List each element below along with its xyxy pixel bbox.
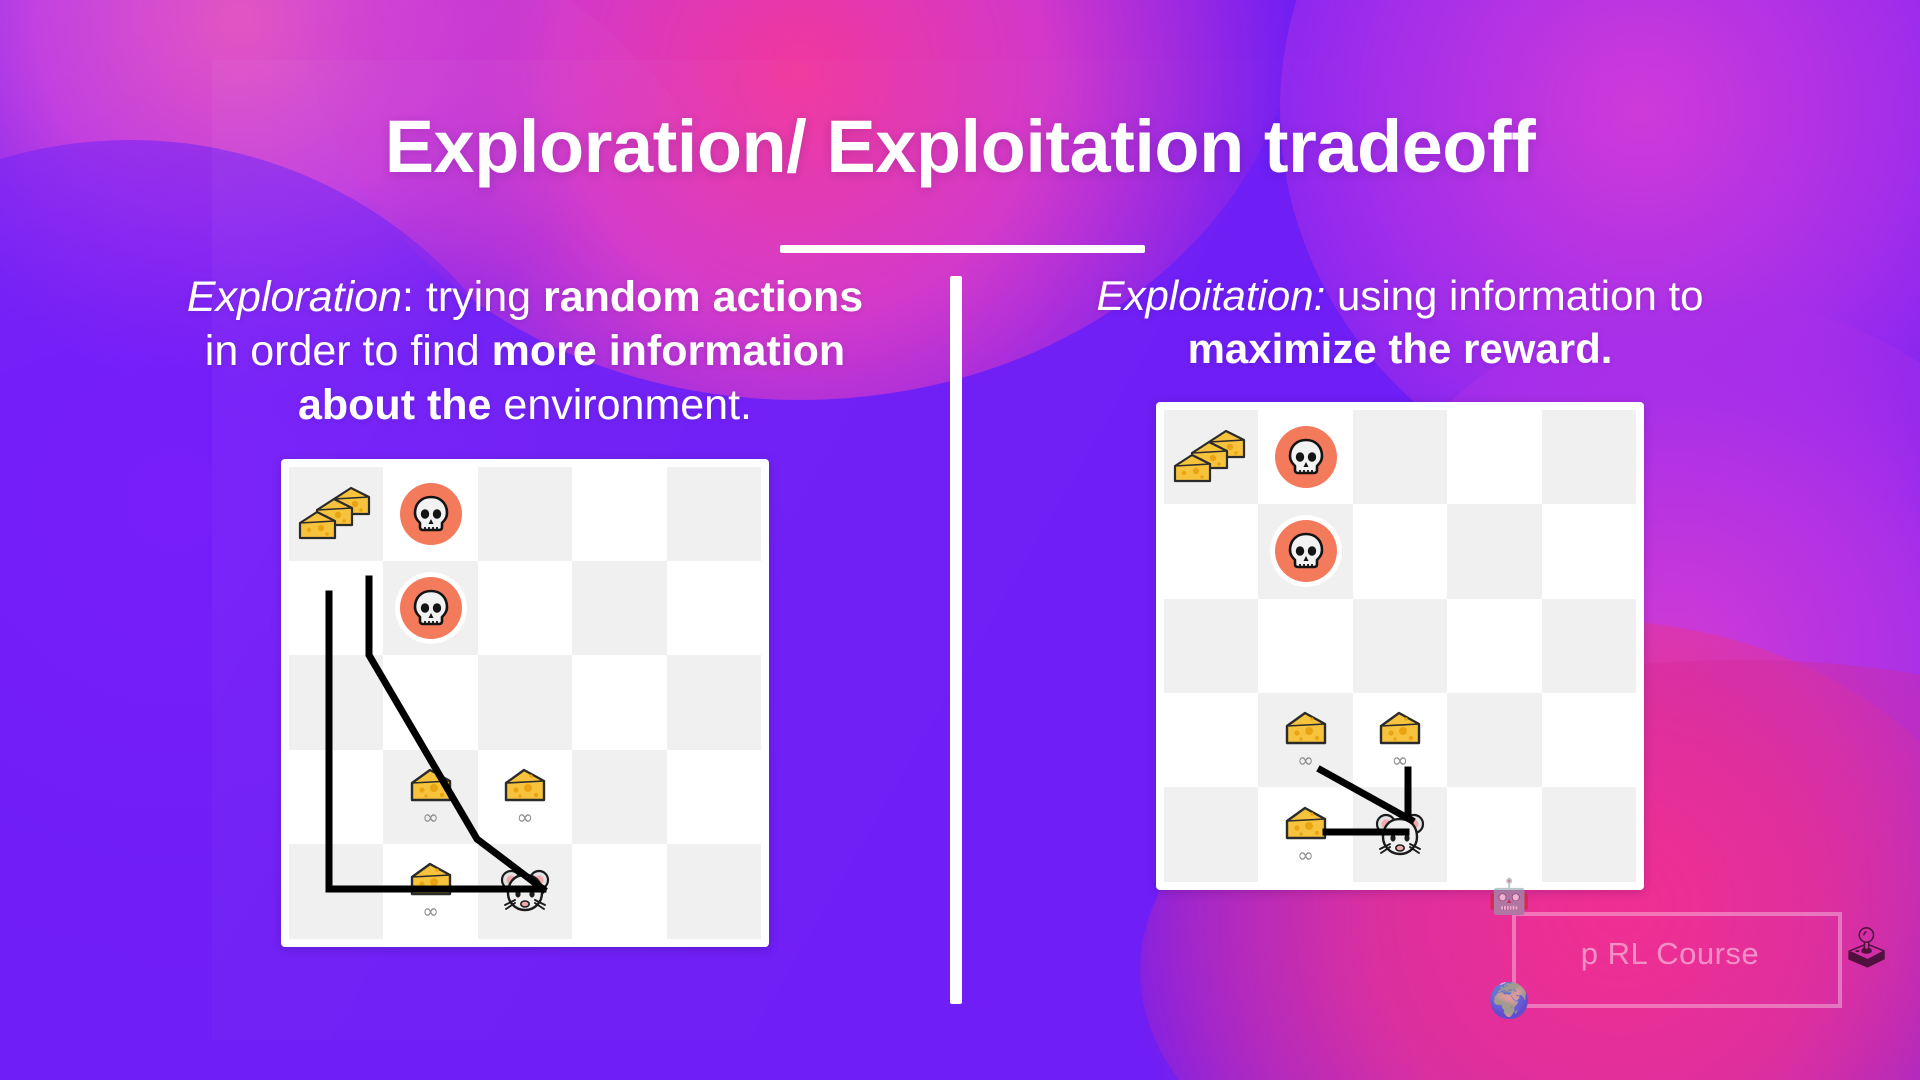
grid-cell-r2-c1: [1258, 599, 1352, 693]
grid-cell-r1-c1: [1258, 504, 1352, 598]
skull-icon: [383, 467, 477, 561]
grid-cell-r4-c4: [1542, 787, 1636, 881]
grid-cell-r3-c0: [289, 750, 383, 844]
grid-cell-r3-c2: ∞: [1353, 693, 1447, 787]
exploitation-term: Exploitation:: [1096, 272, 1325, 319]
mouse-icon-glyph: [499, 867, 551, 915]
grid-cell-r1-c4: [667, 561, 761, 655]
cheese-reward-label: ∞: [1297, 750, 1314, 770]
cheese-stack-icon: [1164, 410, 1258, 504]
exploration-board: ∞∞∞: [281, 459, 769, 947]
grid-cell-r0-c1: [383, 467, 477, 561]
cheese-icon-glyph: [1283, 710, 1329, 748]
skull-icon: [383, 561, 477, 655]
grid-cell-r4-c3: [572, 844, 666, 938]
grid-cell-r4-c1: ∞: [1258, 787, 1352, 881]
exploration-mid: in order to find: [205, 327, 492, 375]
watermark-label: p RL Course: [1494, 936, 1846, 972]
grid-cell-r2-c1: [383, 655, 477, 749]
grid-cell-r2-c2: [478, 655, 572, 749]
grid-cell-r3-c4: [667, 750, 761, 844]
cheese-icon: ∞: [478, 750, 572, 844]
exploitation-grid: ∞∞∞: [1164, 410, 1636, 882]
grid-cell-r1-c4: [1542, 504, 1636, 598]
exploitation-board-wrapper: ∞∞∞: [1050, 402, 1750, 890]
exploration-term: Exploration: [187, 273, 402, 321]
cheese-icon: ∞: [1258, 693, 1352, 787]
grid-cell-r1-c0: [1164, 504, 1258, 598]
skull-icon-token: [1275, 520, 1337, 582]
grid-cell-r2-c0: [1164, 599, 1258, 693]
grid-cell-r1-c3: [1447, 504, 1541, 598]
exploration-grid: ∞∞∞: [289, 467, 761, 939]
exploration-after-term: : trying: [402, 273, 543, 321]
exploitation-caption: Exploitation: using information to maxim…: [1050, 270, 1750, 376]
cheese-icon-glyph: [502, 767, 548, 805]
exploration-column: Exploration: trying random actions in or…: [180, 270, 870, 947]
page-title: Exploration/ Exploitation tradeoff: [0, 104, 1920, 189]
grid-cell-r3-c1: ∞: [383, 750, 477, 844]
grid-cell-r2-c4: [1542, 599, 1636, 693]
grid-cell-r4-c4: [667, 844, 761, 938]
grid-cell-r2-c2: [1353, 599, 1447, 693]
skull-icon: [1258, 410, 1352, 504]
grid-cell-r4-c3: [1447, 787, 1541, 881]
grid-cell-r3-c4: [1542, 693, 1636, 787]
mouse-icon: [1353, 787, 1447, 881]
cheese-reward-label: ∞: [422, 901, 439, 921]
grid-cell-r1-c3: [572, 561, 666, 655]
skull-icon: [1258, 504, 1352, 598]
grid-cell-r2-c3: [572, 655, 666, 749]
exploration-board-wrapper: ∞∞∞: [180, 459, 870, 947]
cheese-icon: ∞: [1353, 693, 1447, 787]
grid-cell-r3-c1: ∞: [1258, 693, 1352, 787]
grid-cell-r0-c2: [478, 467, 572, 561]
cheese-stack-icon-glyph: [1172, 426, 1250, 488]
cheese-reward-label: ∞: [422, 807, 439, 827]
slide-content: Exploration/ Exploitation tradeoff Explo…: [0, 0, 1920, 1080]
cheese-icon: ∞: [383, 750, 477, 844]
skull-icon-token: [1275, 426, 1337, 488]
cheese-reward-label: ∞: [1297, 845, 1314, 865]
cheese-icon: ∞: [383, 844, 477, 938]
grid-cell-r4-c0: [1164, 787, 1258, 881]
grid-cell-r0-c1: [1258, 410, 1352, 504]
mouse-icon-glyph: [1374, 811, 1426, 859]
grid-cell-r0-c3: [572, 467, 666, 561]
cheese-reward-label: ∞: [517, 807, 534, 827]
grid-cell-r4-c2: [1353, 787, 1447, 881]
grid-cell-r3-c3: [572, 750, 666, 844]
watermark: p RL Course 🤖 🌍 🕹: [1494, 884, 1874, 1034]
cheese-icon-glyph: [408, 767, 454, 805]
mouse-icon: [478, 844, 572, 938]
grid-cell-r4-c2: [478, 844, 572, 938]
exploration-bold-1: random actions: [543, 273, 863, 321]
cheese-reward-label: ∞: [1392, 750, 1409, 770]
grid-cell-r1-c2: [478, 561, 572, 655]
grid-cell-r2-c3: [1447, 599, 1541, 693]
grid-cell-r3-c3: [1447, 693, 1541, 787]
grid-cell-r2-c4: [667, 655, 761, 749]
exploitation-column: Exploitation: using information to maxim…: [1050, 270, 1750, 890]
globe-icon: 🌍: [1488, 984, 1530, 1018]
grid-cell-r3-c0: [1164, 693, 1258, 787]
column-divider: [950, 276, 962, 1004]
robot-icon: 🤖: [1488, 880, 1530, 914]
skull-icon-token: [400, 483, 462, 545]
grid-cell-r3-c2: ∞: [478, 750, 572, 844]
cheese-icon-glyph: [1377, 710, 1423, 748]
cheese-stack-icon-glyph: [297, 483, 375, 545]
cheese-stack-icon: [289, 467, 383, 561]
grid-cell-r0-c0: [1164, 410, 1258, 504]
grid-cell-r1-c0: [289, 561, 383, 655]
grid-cell-r0-c4: [667, 467, 761, 561]
title-underline-rule: [780, 245, 1145, 253]
grid-cell-r1-c1: [383, 561, 477, 655]
exploitation-bold-1: maximize the reward.: [1188, 325, 1613, 372]
grid-cell-r4-c1: ∞: [383, 844, 477, 938]
exploration-tail: environment.: [491, 381, 752, 429]
grid-cell-r0-c2: [1353, 410, 1447, 504]
grid-cell-r2-c0: [289, 655, 383, 749]
skull-icon-token: [400, 577, 462, 639]
cheese-icon: ∞: [1258, 787, 1352, 881]
joystick-icon: 🕹: [1841, 928, 1892, 968]
exploitation-after-term: using information to: [1325, 272, 1703, 319]
grid-cell-r1-c2: [1353, 504, 1447, 598]
grid-cell-r0-c3: [1447, 410, 1541, 504]
cheese-icon-glyph: [408, 861, 454, 899]
exploitation-board: ∞∞∞: [1156, 402, 1644, 890]
grid-cell-r4-c0: [289, 844, 383, 938]
grid-cell-r0-c0: [289, 467, 383, 561]
cheese-icon-glyph: [1283, 805, 1329, 843]
exploration-caption: Exploration: trying random actions in or…: [180, 270, 870, 433]
grid-cell-r0-c4: [1542, 410, 1636, 504]
